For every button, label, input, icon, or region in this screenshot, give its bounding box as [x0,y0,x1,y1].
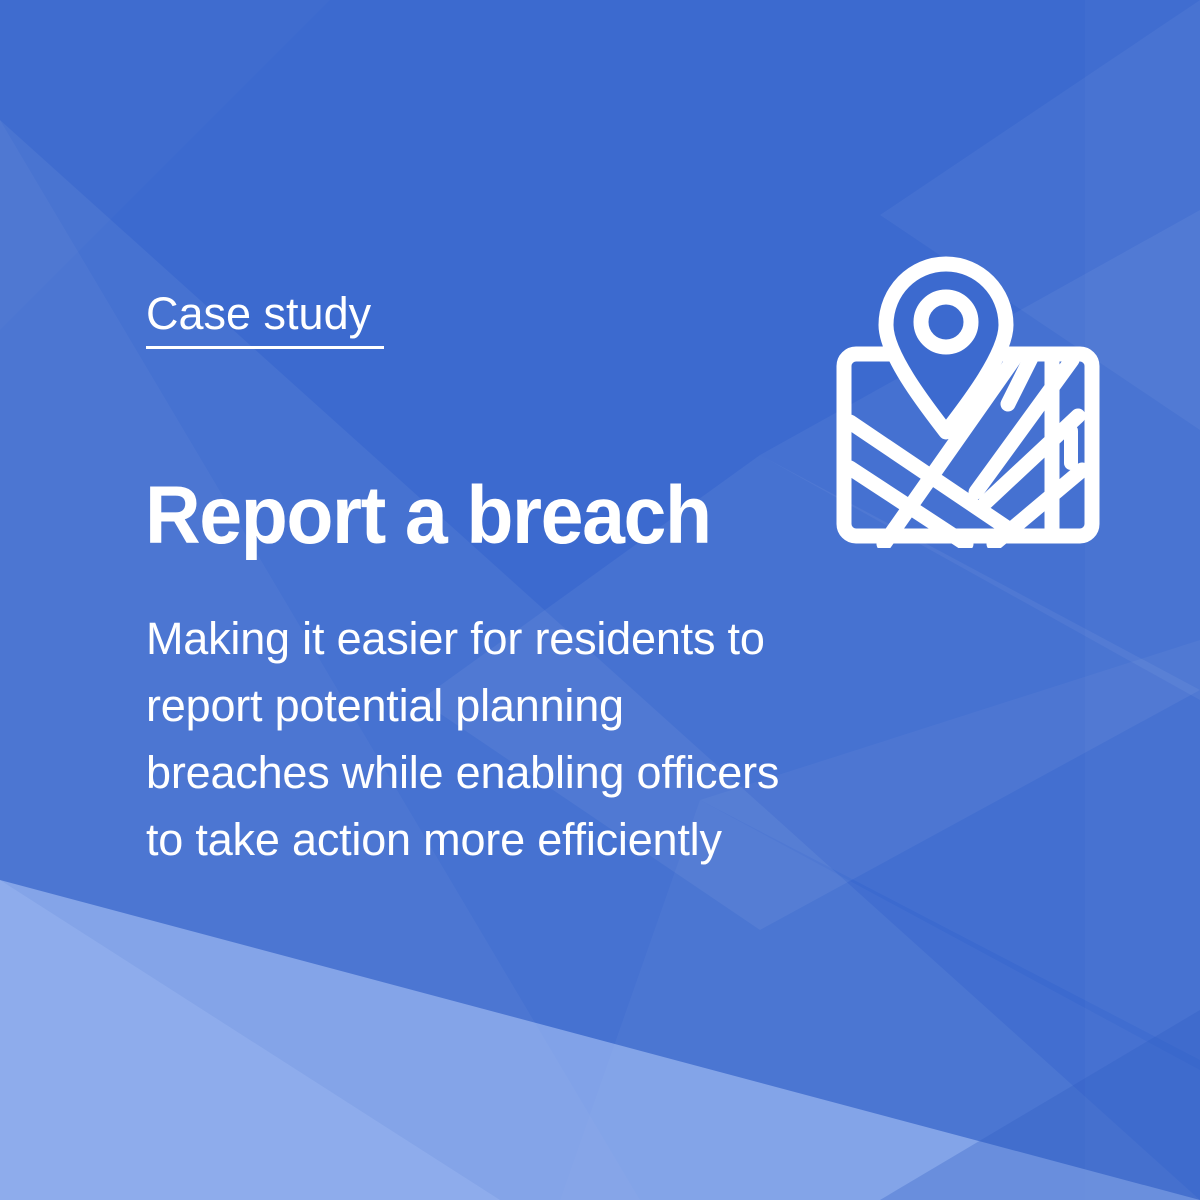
card-description: Making it easier for residents to report… [146,605,806,873]
card-content: Case study Report a breach Making it eas… [0,0,1200,1200]
eyebrow-label: Case study [146,288,384,349]
page-title: Report a breach [145,470,711,562]
case-study-card: Case study Report a breach Making it eas… [0,0,1200,1200]
map-location-pin-icon [826,256,1106,548]
